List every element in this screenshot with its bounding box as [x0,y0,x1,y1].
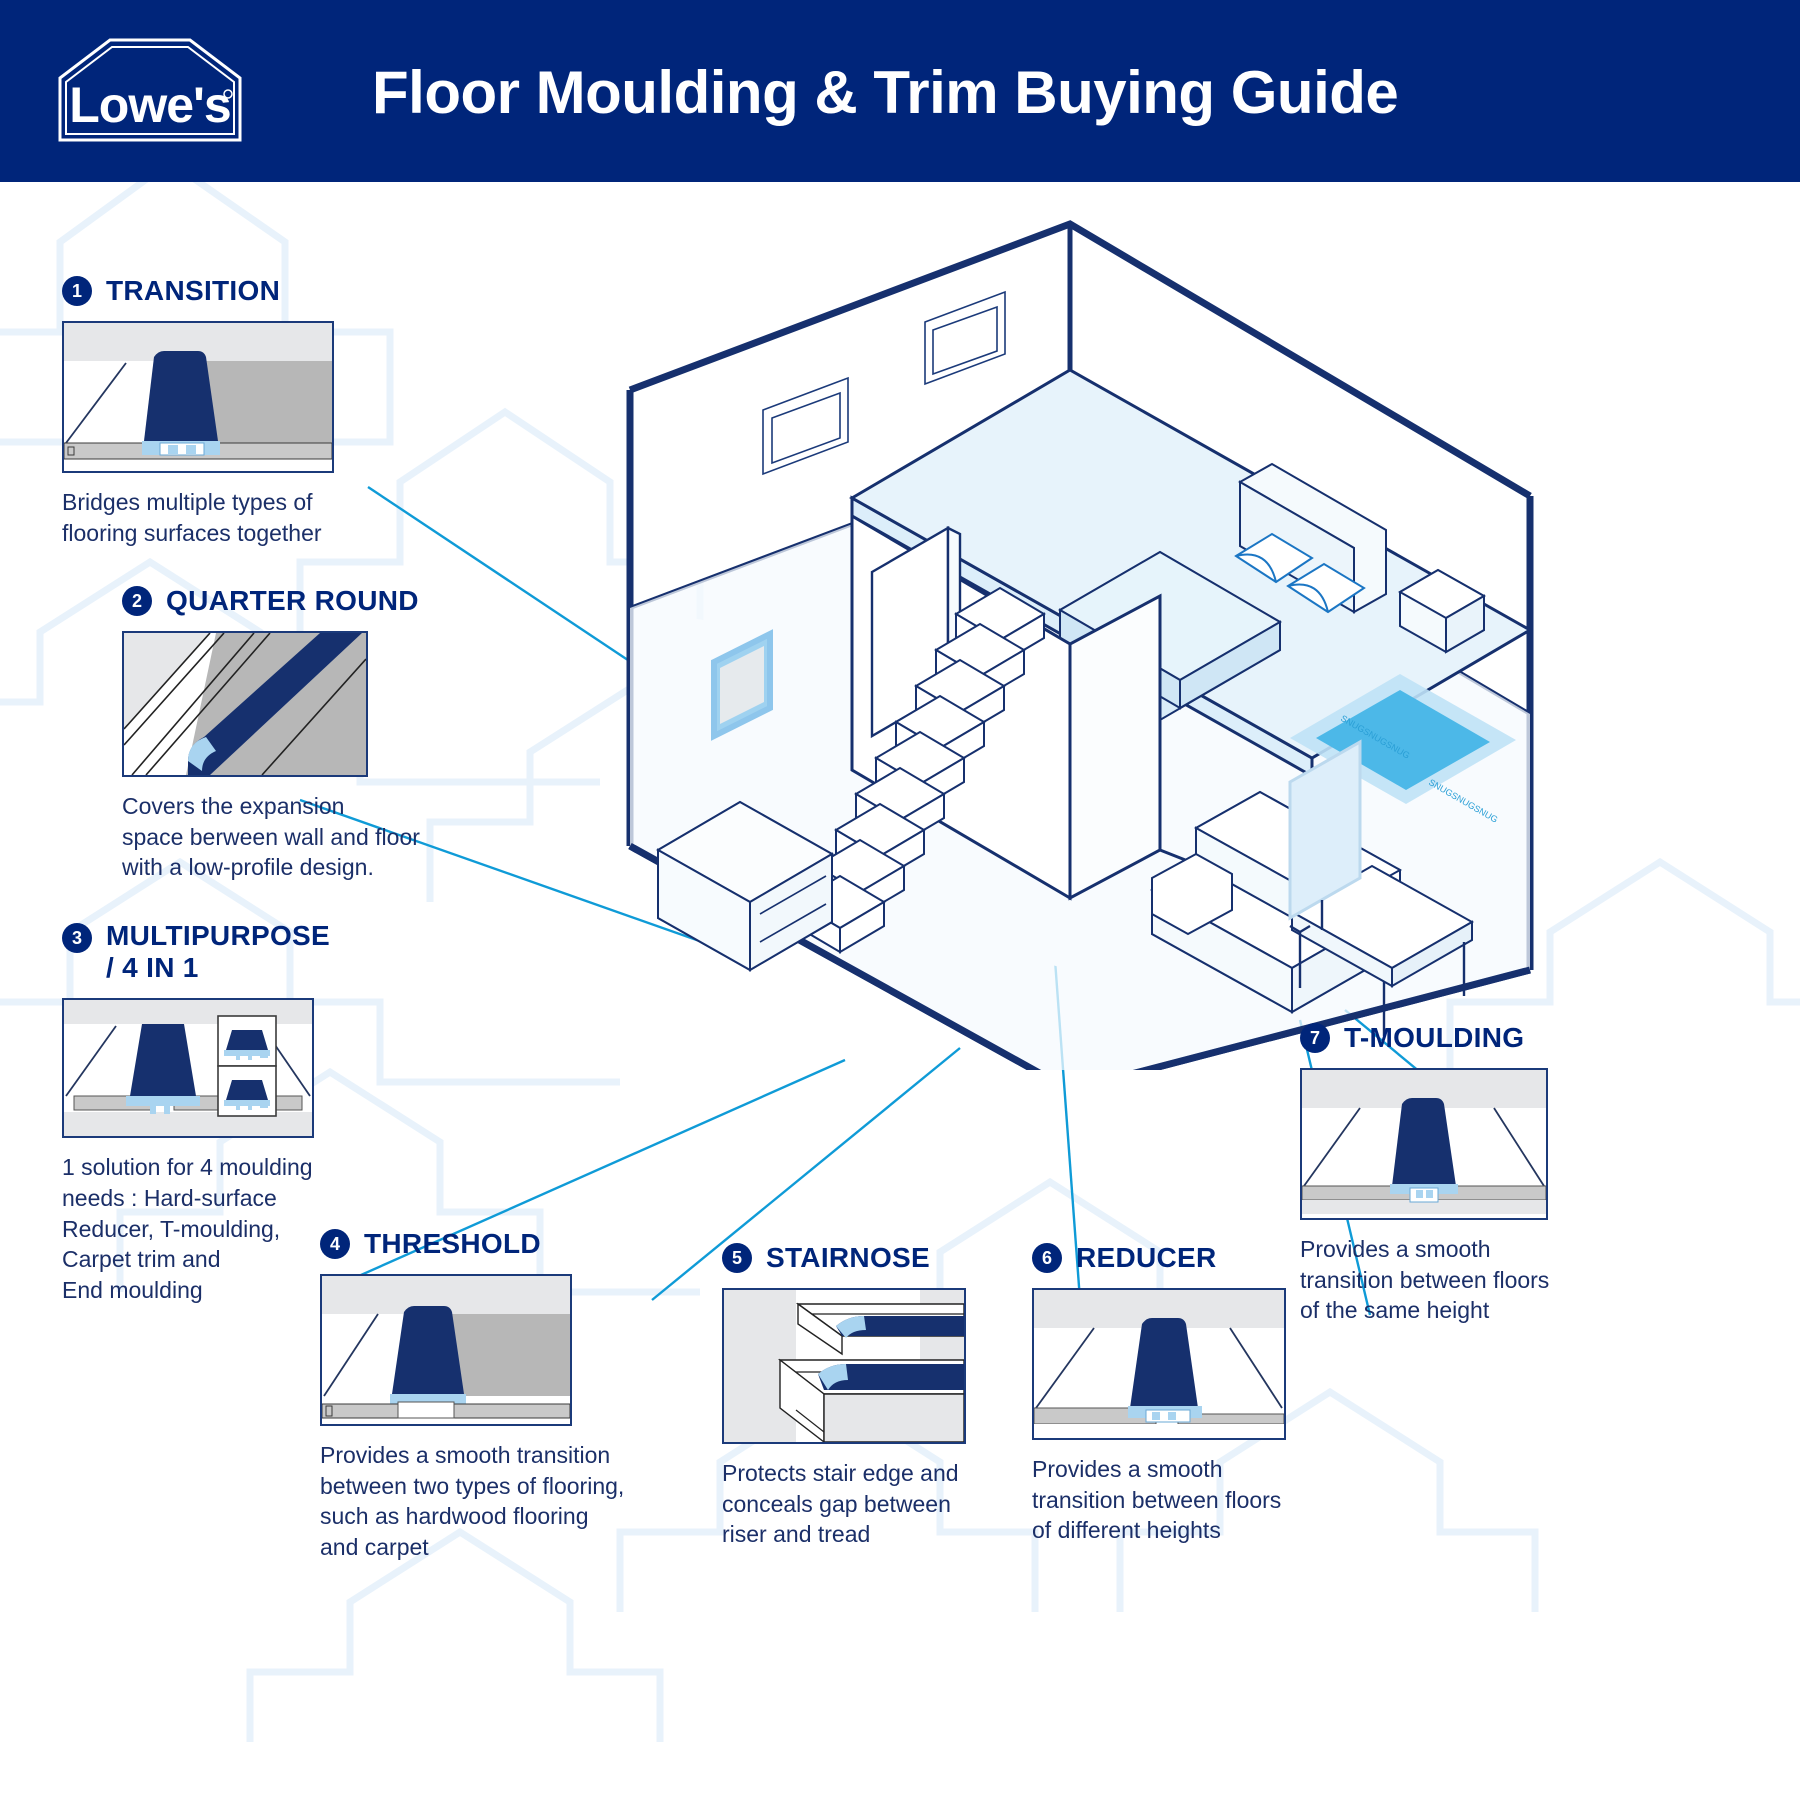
callout-desc-7: Provides a smooth transition between flo… [1300,1234,1630,1326]
callout-head-1: 1 TRANSITION [62,275,422,307]
badge-number-7: 7 [1300,1023,1330,1053]
callout-transition: 1 TRANSITION Bridges multiple types of f… [62,275,422,548]
badge-number-5: 5 [722,1243,752,1273]
callout-desc-6: Provides a smooth transition between flo… [1032,1454,1352,1546]
callout-t-moulding: 7 T-MOULDING Provides a smooth transitio… [1300,1022,1630,1326]
figure-threshold [320,1274,572,1426]
callout-desc-4: Provides a smooth transition between two… [320,1440,680,1562]
callout-head-2: 2 QUARTER ROUND [122,585,492,617]
figure-transition [62,321,334,473]
badge-number-2: 2 [122,586,152,616]
callout-quarter-round: 2 QUARTER ROUND Covers the expansion spa… [122,585,492,883]
callout-title-4: THRESHOLD [364,1228,541,1260]
figure-reducer [1032,1288,1286,1440]
lowes-logo-mark: Lowe's [52,36,248,148]
figure-quarter-round [122,631,368,777]
figure-stairnose [722,1288,966,1444]
callout-head-3: 3 MULTIPURPOSE / 4 IN 1 [62,920,372,984]
callout-head-7: 7 T-MOULDING [1300,1022,1630,1054]
callout-title-7: T-MOULDING [1344,1022,1524,1054]
svg-text:Lowe's: Lowe's [69,77,230,133]
callout-title-6: REDUCER [1076,1242,1217,1274]
badge-number-1: 1 [62,276,92,306]
callout-title-2: QUARTER ROUND [166,585,419,617]
callout-desc-5: Protects stair edge and conceals gap bet… [722,1458,1042,1550]
callout-head-5: 5 STAIRNOSE [722,1242,1042,1274]
figure-t-moulding [1300,1068,1548,1220]
callout-title-1: TRANSITION [106,275,280,307]
lowes-logo[interactable]: Lowe's [52,36,248,148]
callout-title-5: STAIRNOSE [766,1242,930,1274]
page-title: Floor Moulding & Trim Buying Guide [372,58,1398,127]
page-header: Lowe's Floor Moulding & Trim Buying Guid… [0,0,1800,182]
badge-number-4: 4 [320,1229,350,1259]
badge-number-3: 3 [62,923,92,953]
figure-multipurpose [62,998,314,1138]
isometric-house-illustration: SNUGSNUGSNUG SNUGSNUGSNUG [600,210,1560,1070]
callout-threshold: 4 THRESHOLD Provides a smooth transition… [320,1228,680,1563]
callout-title-3: MULTIPURPOSE / 4 IN 1 [106,920,330,984]
callout-desc-2: Covers the expansion space berween wall … [122,791,492,883]
badge-number-6: 6 [1032,1243,1062,1273]
callout-desc-1: Bridges multiple types of flooring surfa… [62,487,422,548]
callout-stairnose: 5 STAIRNOSE Protects stair edge and conc… [722,1242,1042,1550]
callout-head-4: 4 THRESHOLD [320,1228,680,1260]
